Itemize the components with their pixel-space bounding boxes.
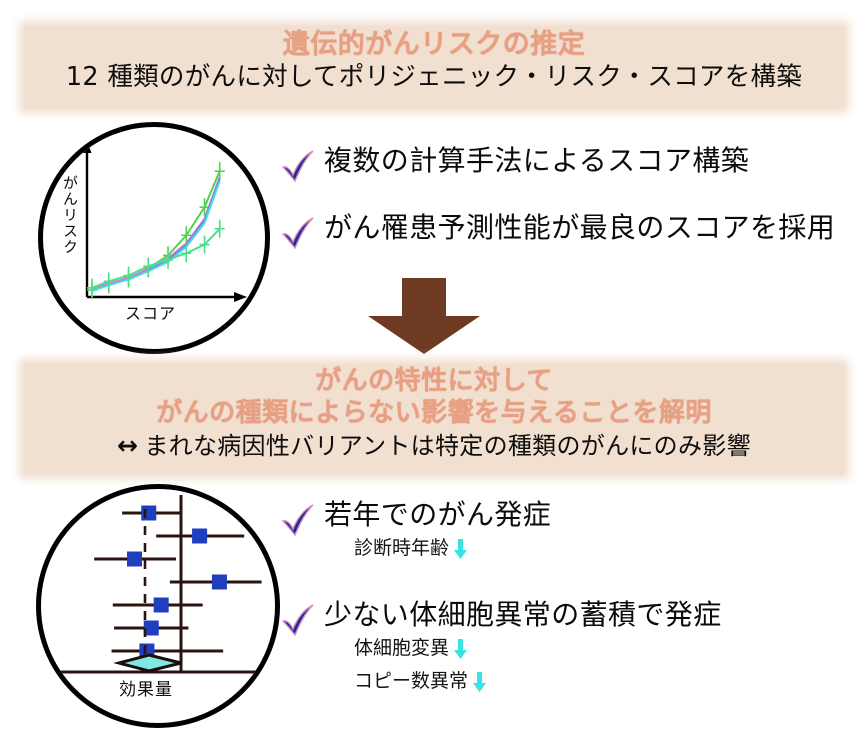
errorbar-marker — [163, 251, 173, 269]
forest-summary-diamond — [119, 655, 181, 671]
forest-plot-circle-inset: 効果量 — [36, 484, 280, 728]
bullet-subline: 体細胞変異 — [354, 636, 722, 662]
errorbar-marker — [87, 279, 97, 297]
chart-line-curve-cyan — [92, 181, 220, 291]
subline-label: 体細胞変異 — [354, 636, 449, 662]
down-arrow-icon — [454, 539, 467, 559]
bullet-label: 少ない体細胞異常の蓄積で発症 — [324, 600, 722, 629]
forest-estimate-marker — [127, 552, 142, 567]
down-flow-arrow-icon — [362, 276, 486, 356]
risk-vs-score-circle-inset: がんリスク スコア — [38, 122, 270, 354]
chart-line-curve-magenta — [92, 177, 220, 289]
banner-cancer-characteristics: がんの特性に対して がんの種類によらない影響を与えることを解明 ↔まれな病因性バ… — [24, 364, 844, 474]
check-icon — [278, 213, 318, 253]
bullet-label: 若年でのがん発症 — [324, 500, 551, 529]
forest-estimate-marker — [141, 506, 156, 521]
errorbar-marker — [200, 236, 210, 254]
banner-mid-subtitle-row: ↔まれな病因性バリアントは特定の種類のがんにのみ影響 — [24, 428, 844, 461]
banner-genetic-risk: 遺伝的がんリスクの推定 12 種類のがんに対してポリジェニック・リスク・スコアを… — [24, 26, 844, 108]
check-icon — [278, 146, 318, 186]
subline-label: コピー数異常 — [354, 669, 468, 695]
chart-line-curve-green-steep — [92, 171, 220, 290]
bullet-young-onset: 若年でのがん発症 診断時年齢 — [278, 500, 551, 562]
subline-label: 診断時年齢 — [354, 536, 449, 562]
bullet-subline: コピー数異常 — [354, 669, 722, 695]
left-right-arrow-icon: ↔ — [117, 431, 144, 460]
bullet-label: 複数の計算手法によるスコア構築 — [324, 146, 749, 175]
banner-mid-subtitle: まれな病因性バリアントは特定の種類のがんにのみ影響 — [144, 432, 751, 460]
banner-mid-title-line2: がんの種類によらない影響を与えることを解明 — [24, 396, 844, 428]
chart-line-curve-blue — [92, 178, 220, 290]
forest-estimate-marker — [154, 598, 169, 613]
down-arrow-icon — [473, 672, 486, 692]
bullet-label: がん罹患予測性能が最良のスコアを採用 — [324, 213, 835, 242]
banner-top-subtitle: 12 種類のがんに対してポリジェニック・リスク・スコアを構築 — [24, 60, 844, 92]
chart-line-curve-springgreen-flat — [92, 229, 220, 288]
check-icon — [278, 600, 318, 640]
bullet-subline: 診断時年齢 — [354, 536, 551, 562]
forest-plot-xlabel: 効果量 — [119, 675, 173, 700]
down-arrow-icon — [454, 639, 467, 659]
risk-chart-xlabel: スコア — [125, 300, 176, 324]
bullet-fewer-somatic-alterations: 少ない体細胞異常の蓄積で発症 体細胞変異 コピー数異常 — [278, 600, 722, 695]
bullet-score-construction: 複数の計算手法によるスコア構築 — [278, 146, 749, 186]
forest-row-group — [94, 506, 261, 659]
bullet-best-score-adopted: がん罹患予測性能が最良のスコアを採用 — [278, 213, 835, 253]
risk-curve-group — [87, 162, 225, 299]
errorbar-marker — [215, 220, 225, 238]
forest-estimate-marker — [212, 575, 227, 590]
check-icon — [278, 500, 318, 540]
errorbar-marker — [104, 272, 114, 290]
forest-estimate-marker — [192, 529, 207, 544]
errorbar-marker — [124, 267, 134, 285]
banner-mid-title-line1: がんの特性に対して — [24, 364, 844, 396]
risk-chart-ylabel: がんリスク — [53, 175, 77, 255]
banner-top-title: 遺伝的がんリスクの推定 — [24, 26, 844, 60]
